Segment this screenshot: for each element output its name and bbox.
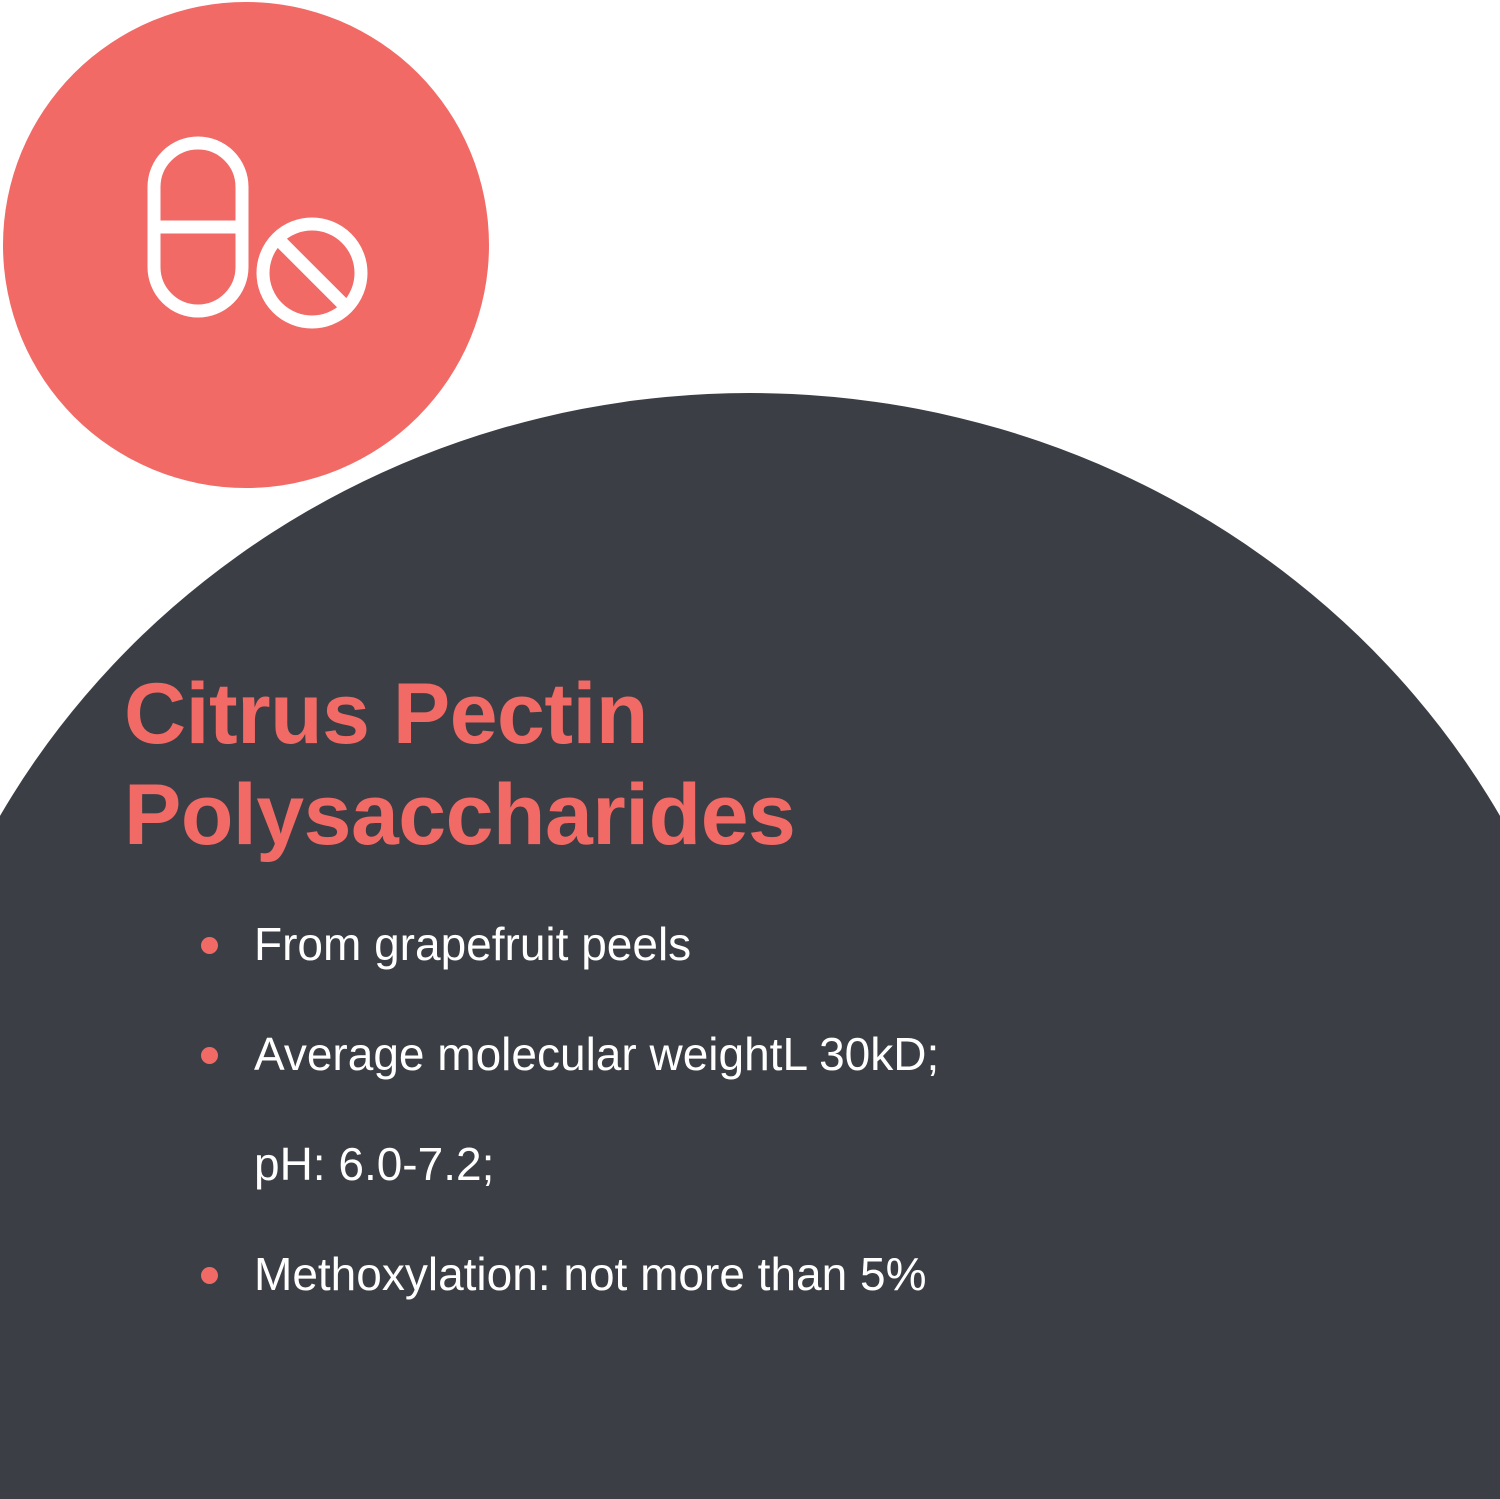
list-item-continuation: pH: 6.0-7.2; [196,1130,1316,1200]
list-item-label: Methoxylation: not more than 5% [254,1240,1316,1310]
bullet-dot-icon [201,937,218,954]
card-content: Citrus Pectin Polysaccharides From grape… [0,0,1500,1499]
infographic-panel: Citrus Pectin Polysaccharides From grape… [0,0,1500,1499]
list-item-label: Average molecular weightL 30kD; [254,1020,1316,1090]
list-item-label: From grapefruit peels [254,910,1316,980]
feature-list: From grapefruit peels Average molecular … [196,910,1316,1310]
list-item-label: pH: 6.0-7.2; [254,1130,1316,1200]
list-item: From grapefruit peels [196,910,1316,980]
bullet-dot-icon [201,1267,218,1284]
bullet-dot-icon [201,1047,218,1064]
list-item: Methoxylation: not more than 5% [196,1240,1316,1310]
card-title: Citrus Pectin Polysaccharides [124,664,1124,865]
list-item: Average molecular weightL 30kD; [196,1020,1316,1090]
